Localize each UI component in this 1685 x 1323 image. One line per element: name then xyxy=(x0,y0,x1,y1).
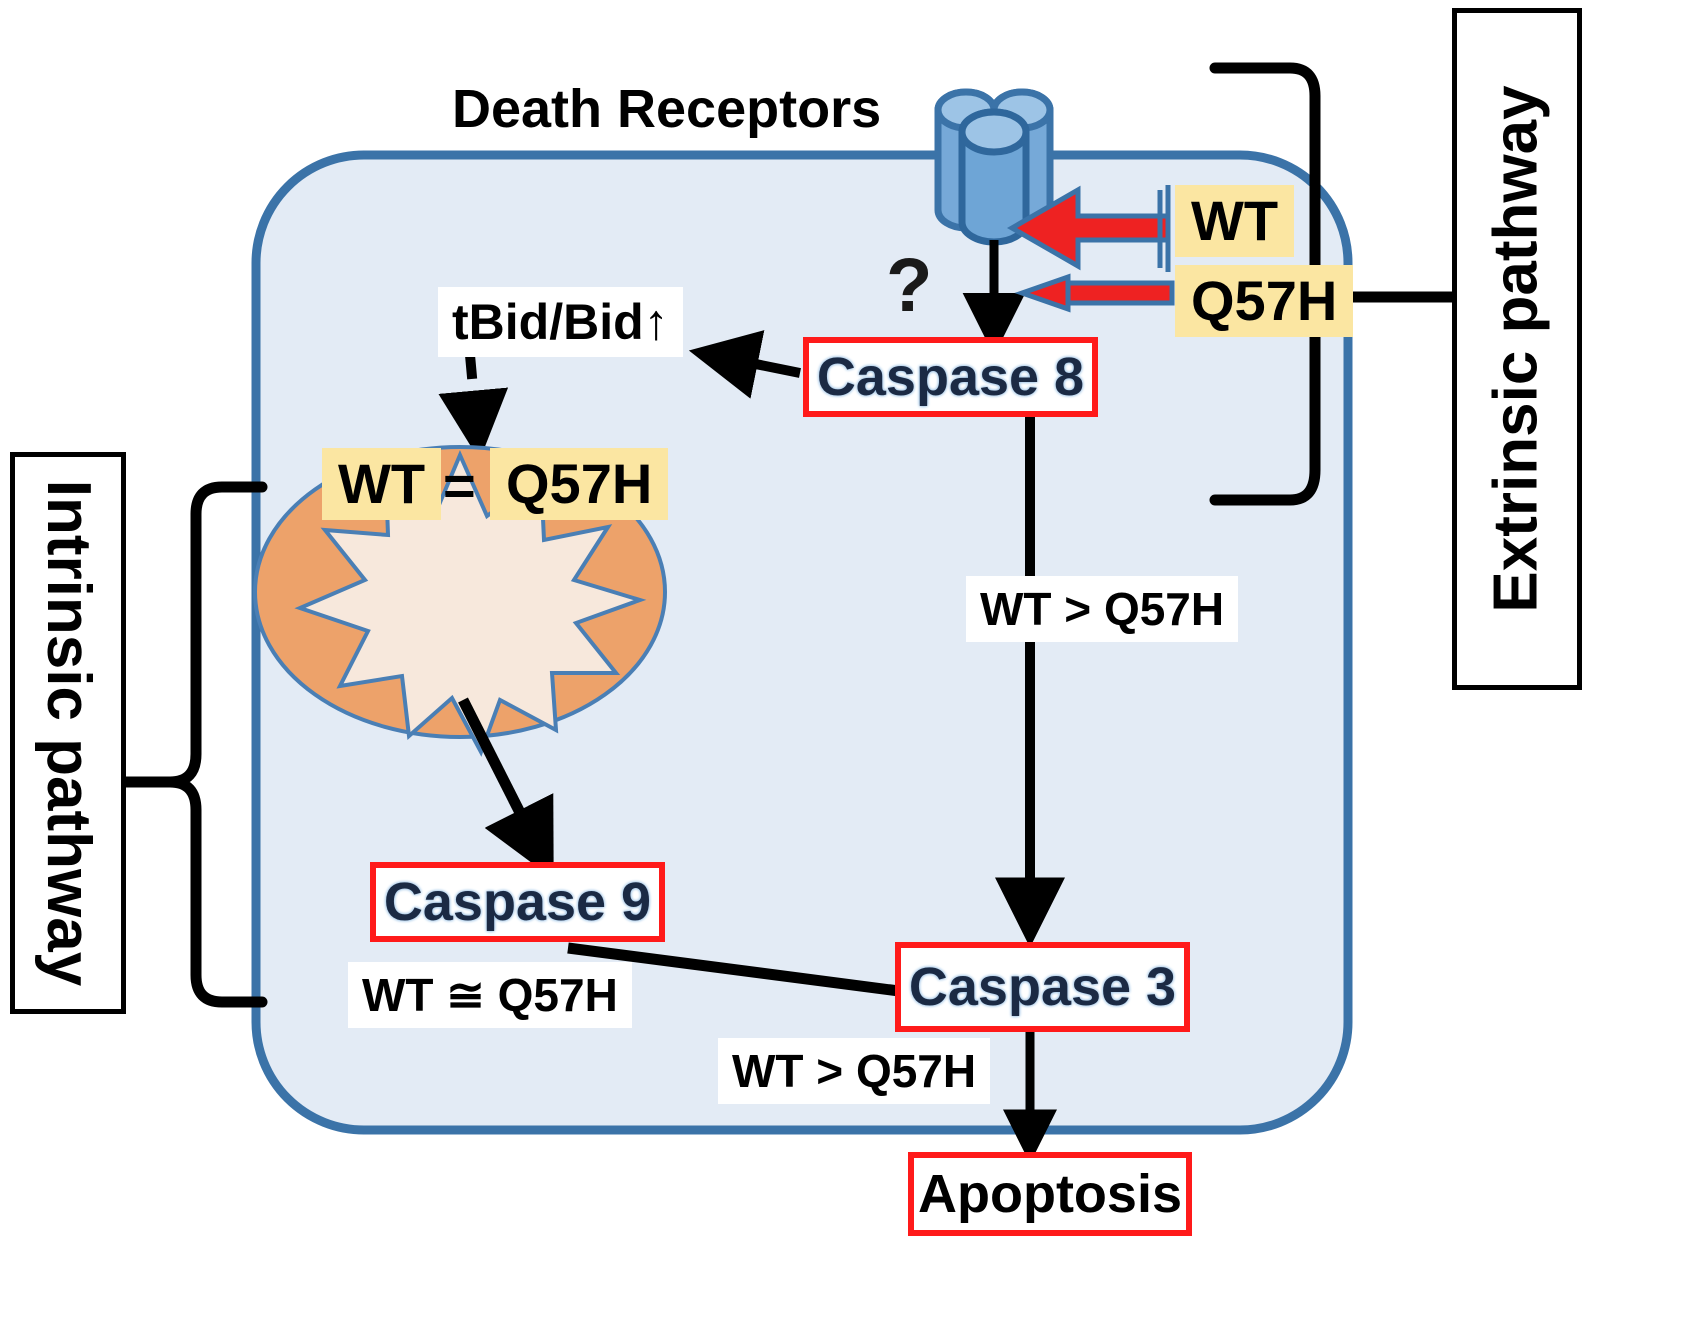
extrinsic-pathway-box: Extrinsic pathway xyxy=(1452,8,1582,690)
page-title: Death Receptors xyxy=(452,78,881,140)
chip-receptor-wt: WT xyxy=(1175,185,1294,257)
diagram-vector-layer xyxy=(0,0,1685,1323)
chip-mito-wt: WT xyxy=(322,448,441,520)
chip-mito-q57h: Q57H xyxy=(490,448,668,520)
label-casp3-to-apoptosis-comparison: WT > Q57H xyxy=(718,1038,990,1104)
extrinsic-pathway-label: Extrinsic pathway xyxy=(1486,85,1548,612)
node-caspase-9-label: Caspase 9 xyxy=(384,875,651,929)
chip-mito-equals: = xyxy=(443,458,476,514)
node-caspase-3-label: Caspase 3 xyxy=(909,960,1176,1014)
label-casp8-to-casp3-comparison: WT > Q57H xyxy=(966,576,1238,642)
pathway-diagram: Death Receptors ? WT Q57H tBid/Bid↑ Casp… xyxy=(0,0,1685,1323)
intrinsic-pathway-box: Intrinsic pathway xyxy=(10,452,126,1014)
node-caspase-8-label: Caspase 8 xyxy=(817,350,1084,404)
node-caspase-8[interactable]: Caspase 8 xyxy=(803,337,1098,417)
question-mark-label: ? xyxy=(886,248,932,324)
label-caspase9-comparison: WT ≅ Q57H xyxy=(348,962,632,1028)
node-caspase-9[interactable]: Caspase 9 xyxy=(370,862,665,942)
intrinsic-bracket xyxy=(170,487,262,1002)
node-apoptosis[interactable]: Apoptosis xyxy=(908,1152,1192,1236)
tbid-bid-label: tBid/Bid↑ xyxy=(438,287,683,357)
node-caspase-3[interactable]: Caspase 3 xyxy=(895,942,1190,1032)
intrinsic-pathway-label: Intrinsic pathway xyxy=(37,480,99,986)
node-apoptosis-label: Apoptosis xyxy=(918,1167,1182,1221)
chip-receptor-q57h: Q57H xyxy=(1175,265,1353,337)
